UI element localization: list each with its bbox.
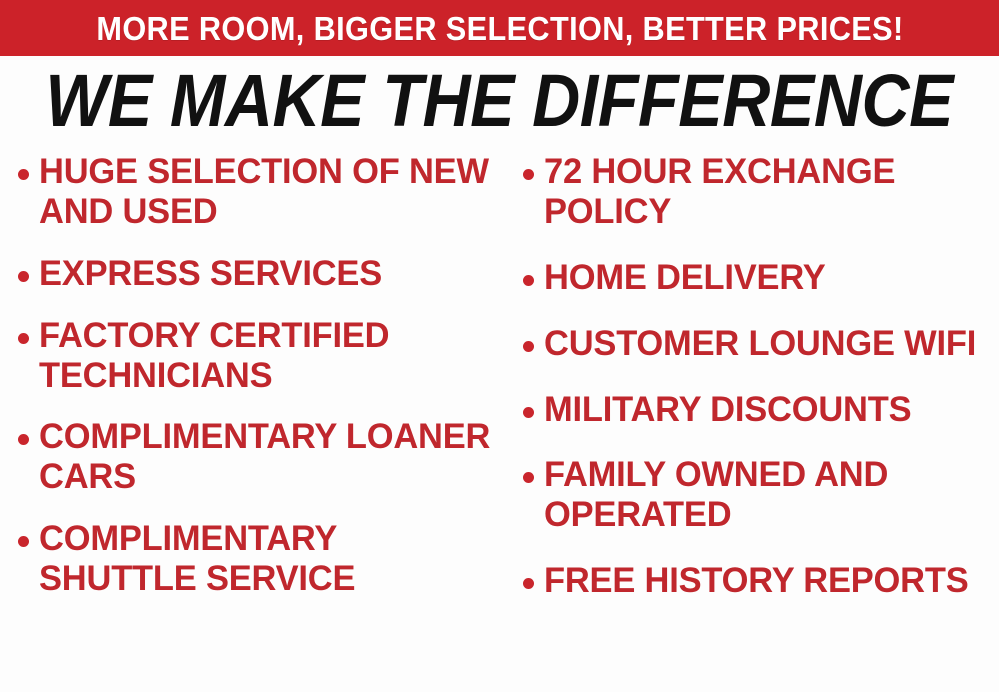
bullet-dot-icon	[523, 275, 534, 286]
benefits-column-left: HUGE SELECTION OF NEW AND USED EXPRESS S…	[0, 152, 505, 692]
list-item-label: COMPLIMENTARY LOANER CARS	[39, 417, 494, 497]
bullet-dot-icon	[18, 271, 29, 282]
list-item: COMPLIMENTARY SHUTTLE SERVICE	[18, 519, 501, 599]
list-item-label: MILITARY DISCOUNTS	[544, 390, 911, 430]
list-item-label: FAMILY OWNED AND OPERATED	[544, 455, 990, 535]
list-item-label: CUSTOMER LOUNGE WIFI	[544, 324, 976, 364]
bullet-dot-icon	[523, 341, 534, 352]
bullet-dot-icon	[523, 472, 534, 483]
advertisement-banner: MORE ROOM, BIGGER SELECTION, BETTER PRIC…	[0, 0, 999, 692]
top-promo-banner-text: MORE ROOM, BIGGER SELECTION, BETTER PRIC…	[96, 12, 903, 45]
list-item: EXPRESS SERVICES	[18, 254, 501, 294]
list-item-label: 72 HOUR EXCHANGE POLICY	[544, 152, 990, 232]
page-title: WE MAKE THE DIFFERENCE	[46, 64, 954, 138]
list-item: FACTORY CERTIFIED TECHNICIANS	[18, 316, 501, 396]
list-item-label: FREE HISTORY REPORTS	[544, 561, 969, 601]
benefits-columns: HUGE SELECTION OF NEW AND USED EXPRESS S…	[0, 152, 999, 692]
headline-container: WE MAKE THE DIFFERENCE	[0, 62, 999, 140]
list-item: 72 HOUR EXCHANGE POLICY	[523, 152, 997, 232]
list-item-label: EXPRESS SERVICES	[39, 254, 382, 294]
list-item-label: FACTORY CERTIFIED TECHNICIANS	[39, 316, 494, 396]
list-item: CUSTOMER LOUNGE WIFI	[523, 324, 997, 364]
bullet-dot-icon	[523, 407, 534, 418]
list-item: MILITARY DISCOUNTS	[523, 390, 997, 430]
list-item-label: COMPLIMENTARY SHUTTLE SERVICE	[39, 519, 494, 599]
list-item: FREE HISTORY REPORTS	[523, 561, 997, 601]
bullet-dot-icon	[523, 578, 534, 589]
benefits-column-right: 72 HOUR EXCHANGE POLICY HOME DELIVERY CU…	[505, 152, 999, 692]
bullet-dot-icon	[18, 434, 29, 445]
list-item: HOME DELIVERY	[523, 258, 997, 298]
top-promo-banner: MORE ROOM, BIGGER SELECTION, BETTER PRIC…	[0, 0, 999, 56]
list-item: COMPLIMENTARY LOANER CARS	[18, 417, 501, 497]
bullet-dot-icon	[18, 333, 29, 344]
bullet-dot-icon	[18, 169, 29, 180]
list-item: FAMILY OWNED AND OPERATED	[523, 455, 997, 535]
list-item-label: HUGE SELECTION OF NEW AND USED	[39, 152, 494, 232]
list-item: HUGE SELECTION OF NEW AND USED	[18, 152, 501, 232]
bullet-dot-icon	[523, 169, 534, 180]
bullet-dot-icon	[18, 536, 29, 547]
list-item-label: HOME DELIVERY	[544, 258, 826, 298]
